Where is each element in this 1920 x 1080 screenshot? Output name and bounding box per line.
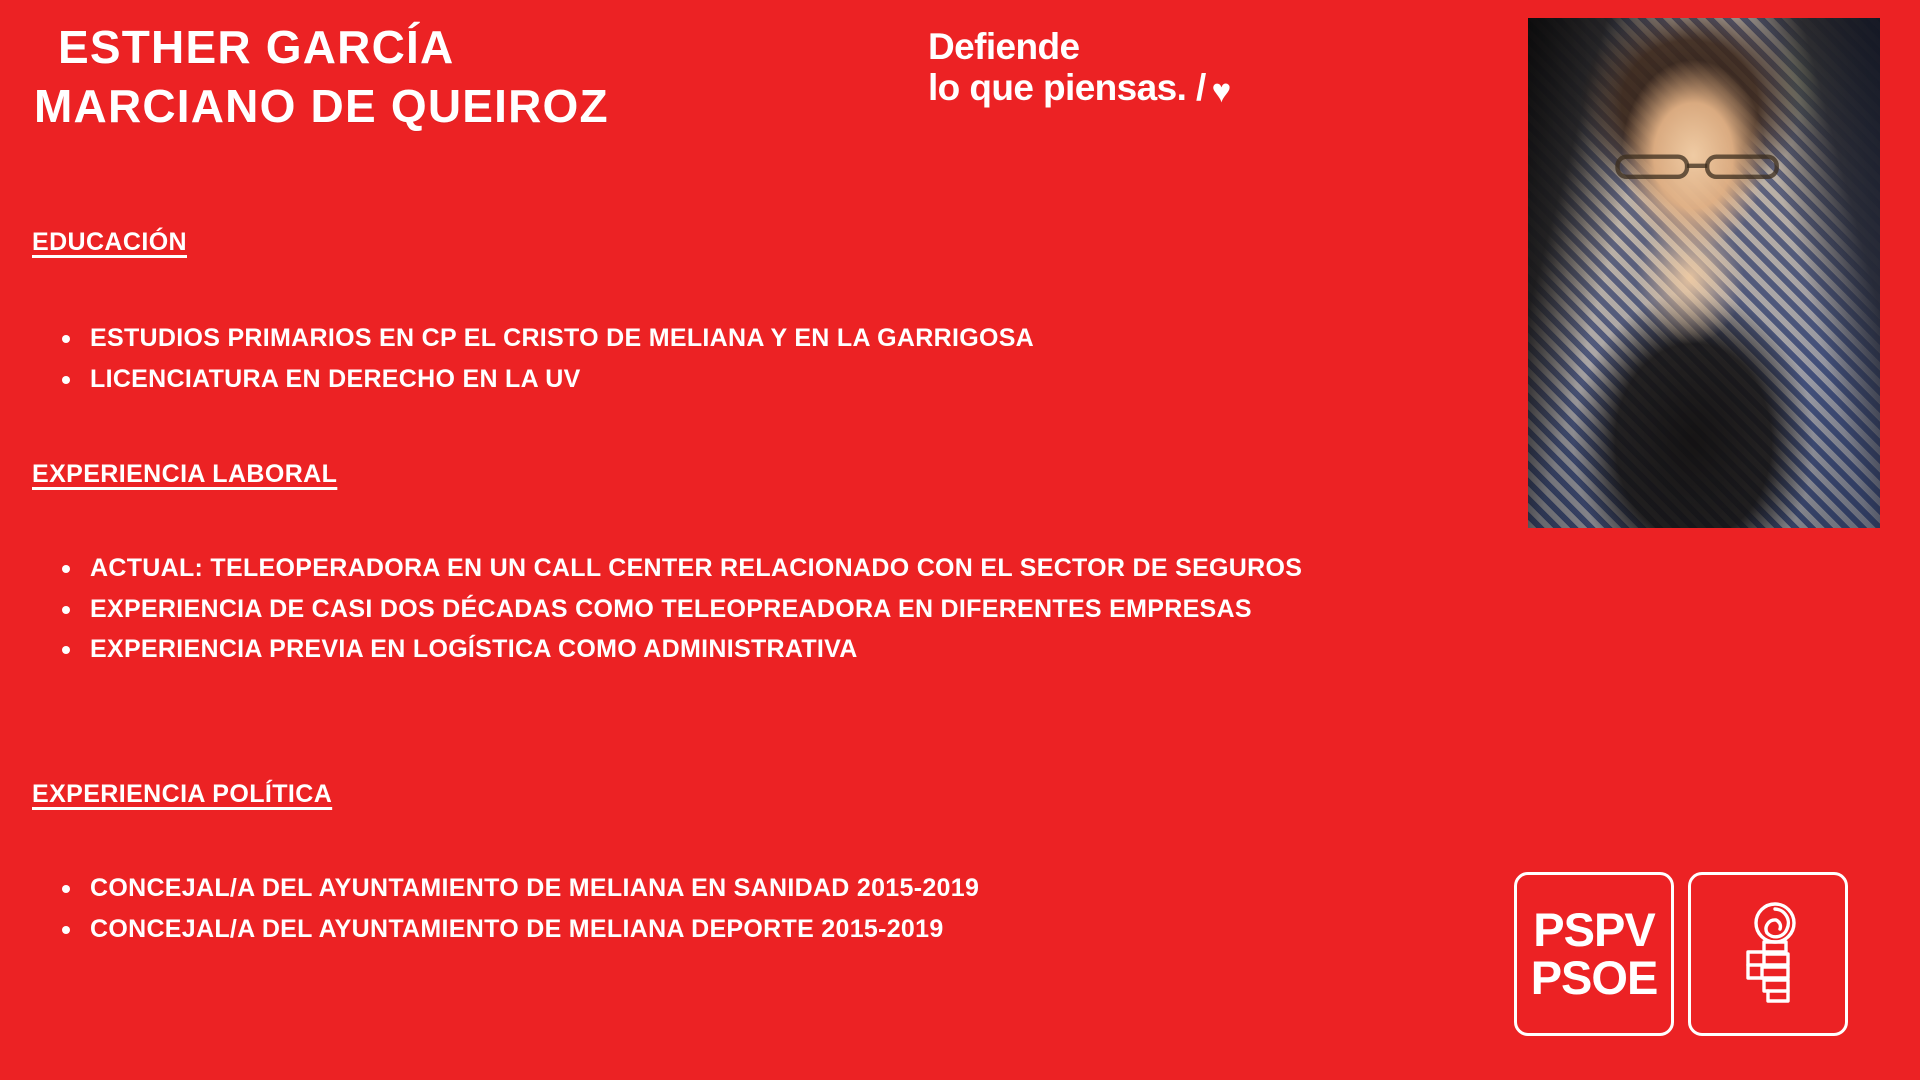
list-item: ESTUDIOS PRIMARIOS EN CP EL CRISTO DE ME… [56, 318, 1034, 359]
slogan-line-2-wrap: lo que piensas. /♥ [928, 67, 1398, 108]
list-item: EXPERIENCIA DE CASI DOS DÉCADAS COMO TEL… [56, 589, 1302, 630]
list-item: CONCEJAL/A DEL AYUNTAMIENTO DE MELIANA D… [56, 909, 979, 950]
list-item: EXPERIENCIA PREVIA EN LOGÍSTICA COMO ADM… [56, 629, 1302, 670]
candidate-photo [1528, 18, 1880, 528]
list-item: CONCEJAL/A DEL AYUNTAMIENTO DE MELIANA E… [56, 868, 979, 909]
section-heading-educacion: EDUCACIÓN [32, 228, 187, 257]
photo-image [1528, 18, 1880, 528]
section-heading-experiencia-politica: EXPERIENCIA POLÍTICA [32, 780, 332, 809]
section-list-educacion: ESTUDIOS PRIMARIOS EN CP EL CRISTO DE ME… [56, 318, 1034, 399]
campaign-slide: ESTHER GARCÍA MARCIANO DE QUEIROZ Defien… [0, 0, 1920, 1080]
slogan-line-1: Defiende [928, 26, 1398, 67]
section-list-experiencia-laboral: ACTUAL: TELEOPERADORA EN UN CALL CENTER … [56, 548, 1302, 670]
logo-wordmark: PSPV PSOE [1531, 906, 1658, 1002]
logo-wordmark-line-2: PSOE [1531, 954, 1658, 1002]
heart-icon: ♥ [1212, 74, 1231, 107]
candidate-name-line-2: MARCIANO DE QUEIROZ [34, 77, 894, 136]
candidate-name-line-1: ESTHER GARCÍA [58, 18, 894, 77]
slogan-line-2: lo que piensas. / [928, 67, 1206, 108]
section-list-experiencia-politica: CONCEJAL/A DEL AYUNTAMIENTO DE MELIANA E… [56, 868, 979, 949]
list-item: LICENCIATURA EN DERECHO EN LA UV [56, 359, 1034, 400]
logo-emblem-box [1688, 872, 1848, 1036]
logo-wordmark-line-1: PSPV [1531, 906, 1658, 954]
eyeglasses-detail-icon [1612, 148, 1795, 184]
section-heading-experiencia-laboral: EXPERIENCIA LABORAL [32, 460, 337, 489]
logo-wordmark-box: PSPV PSOE [1514, 872, 1674, 1036]
campaign-slogan: Defiende lo que piensas. /♥ [928, 26, 1398, 109]
fist-and-rose-icon [1718, 899, 1818, 1009]
candidate-name: ESTHER GARCÍA MARCIANO DE QUEIROZ [34, 18, 894, 136]
pspv-psoe-logo: PSPV PSOE [1514, 872, 1848, 1036]
list-item: ACTUAL: TELEOPERADORA EN UN CALL CENTER … [56, 548, 1302, 589]
